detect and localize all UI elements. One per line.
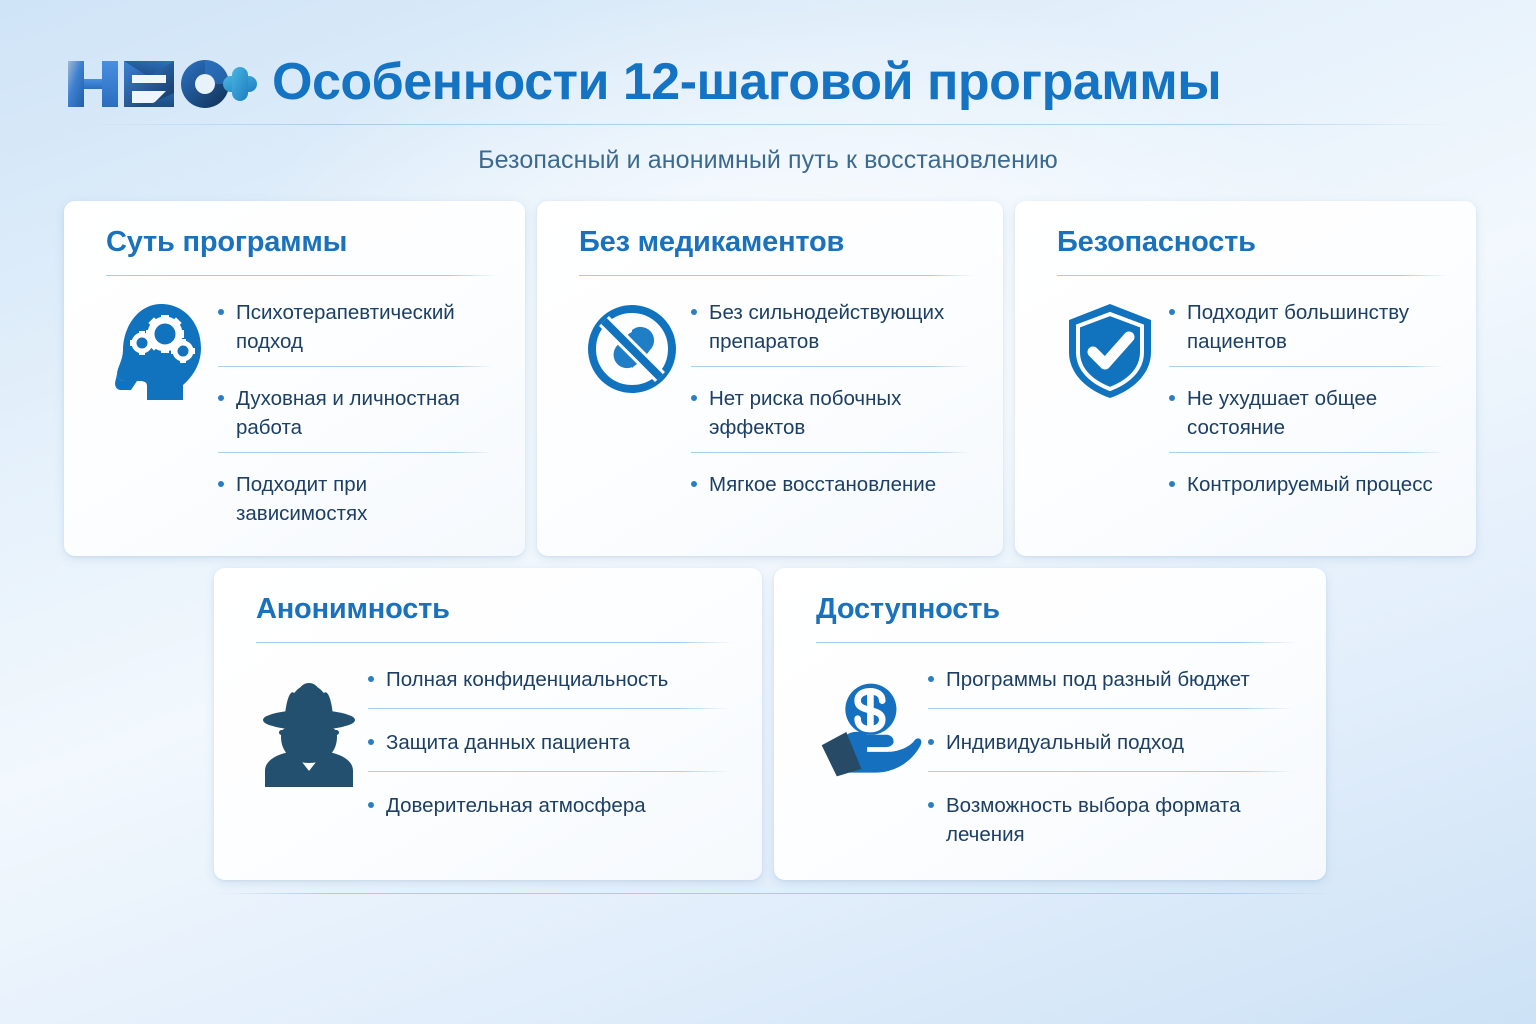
bullet-text: Доверительная атмосфера <box>386 791 734 820</box>
card-title: Суть программы <box>106 227 497 259</box>
page-header: Особенности 12-шаговой программы Безопас… <box>0 0 1536 190</box>
list-item: Мягкое восстановление <box>689 452 975 499</box>
footer-divider <box>216 893 1334 894</box>
bullet-text: Психотерапевтический подход <box>236 298 497 356</box>
anonymous-person-icon <box>256 665 362 789</box>
card-body: Программы под разный бюджет Индивидуальн… <box>816 665 1298 849</box>
bullet-list: Программы под разный бюджет Индивидуальн… <box>922 665 1298 849</box>
list-item: Возможность выбора формата лечения <box>926 771 1298 849</box>
list-item: Психотерапевтический подход <box>216 298 497 356</box>
page-title: Особенности 12-шаговой программы <box>272 56 1221 108</box>
bullet-list: Подходит большинству пациентов Не ухудша… <box>1163 298 1448 500</box>
bullet-text: Программы под разный бюджет <box>946 665 1298 694</box>
card-body: Подходит большинству пациентов Не ухудша… <box>1057 298 1448 500</box>
card-title-divider <box>816 642 1298 643</box>
list-item: Защита данных пациента <box>366 708 734 757</box>
card-anonimnost[interactable]: Анонимность <box>214 568 762 880</box>
header-divider <box>80 124 1460 125</box>
card-title-divider <box>106 275 497 276</box>
no-pills-icon <box>579 298 685 396</box>
list-item: Индивидуальный подход <box>926 708 1298 757</box>
cards-row-top: Суть программы <box>64 201 1476 556</box>
head-gears-icon <box>106 298 212 402</box>
list-item: Духовная и личностная работа <box>216 366 497 442</box>
card-title: Доступность <box>816 594 1298 626</box>
list-item: Подходит при зависимостях <box>216 452 497 528</box>
bullet-text: Полная конфиденциальность <box>386 665 734 694</box>
card-title-divider <box>579 275 975 276</box>
heo-plus-logo-icon <box>62 53 257 115</box>
card-title-divider <box>256 642 734 643</box>
page-title-row: Особенности 12-шаговой программы <box>272 44 1452 120</box>
bullet-list: Психотерапевтический подход Духовная и л… <box>212 298 497 529</box>
list-item: Полная конфиденциальность <box>366 665 734 694</box>
brand-logo <box>62 48 257 120</box>
bullet-text: Мягкое восстановление <box>709 470 975 499</box>
card-body: Без сильнодействующих препаратов Нет рис… <box>579 298 975 500</box>
bullet-text: Без сильнодействующих препаратов <box>709 298 975 356</box>
card-title: Без медикаментов <box>579 227 975 259</box>
card-sut-programmy[interactable]: Суть программы <box>64 201 525 556</box>
list-item: Подходит большинству пациентов <box>1167 298 1448 356</box>
list-item: Без сильнодействующих препаратов <box>689 298 975 356</box>
card-bezopasnost[interactable]: Безопасность Подходит большинству пациен… <box>1015 201 1476 556</box>
bullet-list: Без сильнодействующих препаратов Нет рис… <box>685 298 975 500</box>
card-title: Безопасность <box>1057 227 1448 259</box>
bullet-text: Подходит большинству пациентов <box>1187 298 1448 356</box>
hand-coin-icon <box>816 665 922 783</box>
card-bez-medikamentov[interactable]: Без медикаментов Без сильнодействующих п… <box>537 201 1003 556</box>
bullet-text: Индивидуальный подход <box>946 728 1298 757</box>
page-subtitle: Безопасный и анонимный путь к восстановл… <box>0 146 1536 175</box>
bullet-text: Защита данных пациента <box>386 728 734 757</box>
card-body: Полная конфиденциальность Защита данных … <box>256 665 734 820</box>
bullet-text: Нет риска побочных эффектов <box>709 384 975 442</box>
card-title-divider <box>1057 275 1448 276</box>
bullet-text: Контролируемый процесс <box>1187 470 1448 499</box>
bullet-text: Духовная и личностная работа <box>236 384 497 442</box>
bullet-list: Полная конфиденциальность Защита данных … <box>362 665 734 820</box>
list-item: Программы под разный бюджет <box>926 665 1298 694</box>
list-item: Не ухудшает общее состояние <box>1167 366 1448 442</box>
list-item: Доверительная атмосфера <box>366 771 734 820</box>
list-item: Нет риска побочных эффектов <box>689 366 975 442</box>
card-dostupnost[interactable]: Доступность Программы под разный бюджет … <box>774 568 1326 880</box>
bullet-text: Не ухудшает общее состояние <box>1187 384 1448 442</box>
list-item: Контролируемый процесс <box>1167 452 1448 499</box>
bullet-text: Подходит при зависимостях <box>236 470 497 528</box>
cards-row-bottom: Анонимность <box>214 568 1326 880</box>
card-title: Анонимность <box>256 594 734 626</box>
bullet-text: Возможность выбора формата лечения <box>946 791 1298 849</box>
card-body: Психотерапевтический подход Духовная и л… <box>106 298 497 529</box>
shield-check-icon <box>1057 298 1163 400</box>
